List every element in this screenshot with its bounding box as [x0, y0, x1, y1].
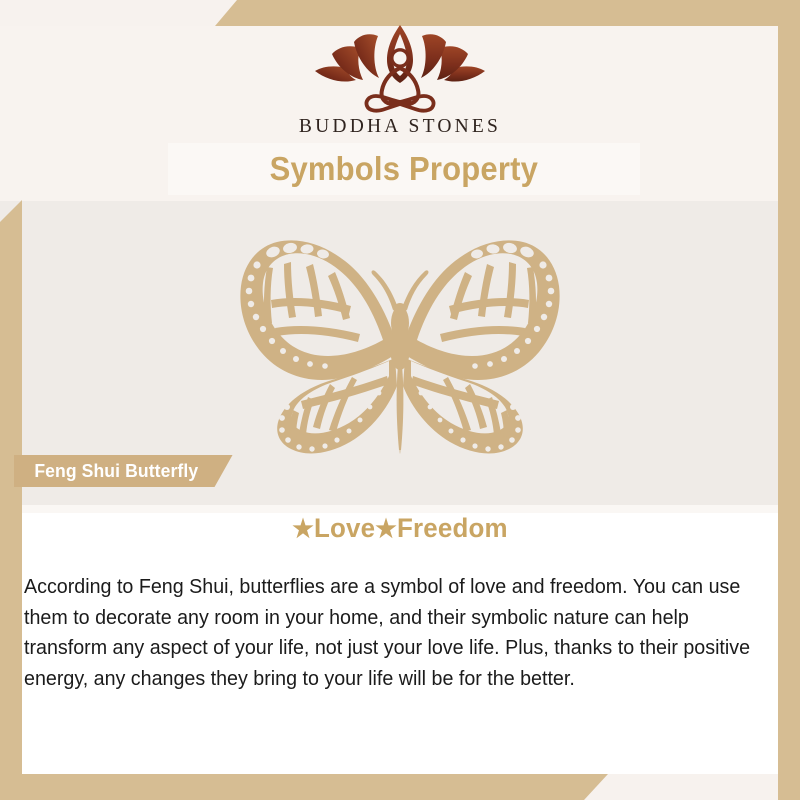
brand-logo: BUDDHA STONES	[0, 22, 800, 138]
feature-description: According to Feng Shui, butterflies are …	[24, 572, 755, 694]
subtitle-word-love: Love	[314, 513, 375, 543]
lotus-meditation-figure-icon	[305, 22, 495, 114]
tag-label: Feng Shui Butterfly	[34, 460, 198, 482]
frame-bottom-gold-bar	[0, 774, 608, 800]
product-infographic-page: BUDDHA STONES Symbols Property	[0, 0, 800, 800]
feature-subtitle: ★Love★Freedom	[16, 513, 784, 544]
star-icon-left: ★	[292, 515, 314, 543]
subtitle-word-freedom: Freedom	[397, 513, 508, 543]
feng-shui-butterfly-tag: Feng Shui Butterfly	[14, 455, 233, 487]
background-panel-lower-tint	[22, 505, 778, 513]
page-title-banner: Symbols Property	[168, 143, 640, 195]
feng-shui-butterfly-illustration	[0, 228, 800, 463]
star-icon-middle: ★	[375, 515, 397, 543]
page-title: Symbols Property	[270, 150, 538, 188]
brand-name: BUDDHA STONES	[299, 116, 501, 138]
